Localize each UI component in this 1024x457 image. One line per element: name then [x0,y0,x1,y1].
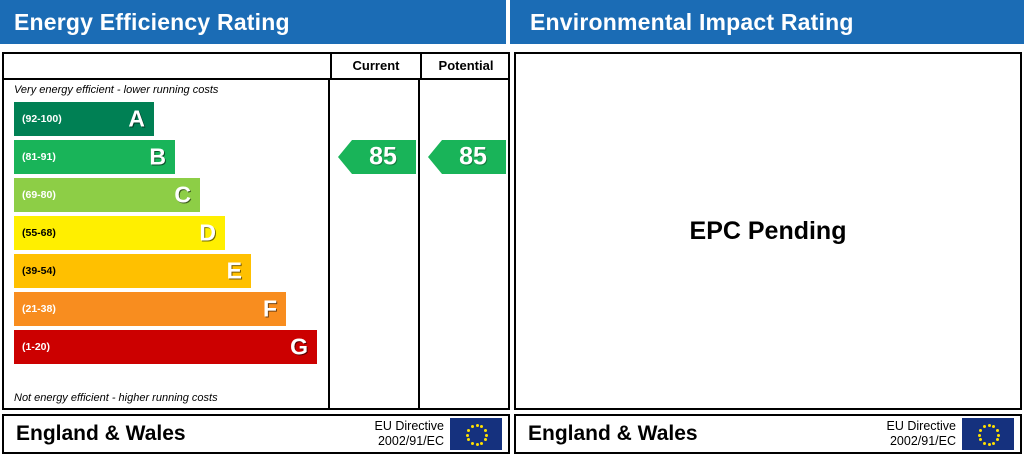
rating-band-letter-b: B [149,146,166,169]
eu-star-icon [983,425,986,428]
eu-star-icon [988,443,991,446]
eu-star-icon [996,429,999,432]
rating-band-range-b: (81-91) [22,151,56,163]
rating-band-range-e: (39-54) [22,265,56,277]
rating-band-range-c: (69-80) [22,189,56,201]
eu-star-icon [485,434,488,437]
eu-star-icon [484,438,487,441]
footer-directive-left: EU Directive 2002/91/EC [375,419,444,449]
potential-rating-value: 85 [444,145,502,170]
column-divider-potential [418,80,420,410]
eu-flag-icon-left [450,418,502,450]
eu-star-icon [471,425,474,428]
energy-rating-title: Energy Efficiency Rating [14,9,290,36]
eu-star-icon [476,424,479,427]
eu-star-icon [480,425,483,428]
rating-band-d: (55-68)D [14,216,225,250]
directive-line-1-left: EU Directive [375,419,444,434]
eu-flag-icon-right [962,418,1014,450]
eu-star-icon [467,438,470,441]
rating-band-range-a: (92-100) [22,113,62,125]
rating-band-g: (1-20)G [14,330,317,364]
rating-band-b: (81-91)B [14,140,175,174]
footer-region-label-left: England & Wales [16,422,186,446]
column-header-row: Current Potential [4,54,508,80]
rating-band-letter-a: A [128,108,145,131]
eu-star-icon [471,442,474,445]
rating-band-c: (69-80)C [14,178,200,212]
eu-star-icon [983,442,986,445]
footer-right: England & Wales EU Directive 2002/91/EC [514,414,1022,454]
potential-rating-arrow: 85 [428,140,506,174]
rating-band-letter-d: D [199,222,216,245]
rating-band-a: (92-100)A [14,102,154,136]
environmental-rating-title: Environmental Impact Rating [530,9,854,36]
column-divider-current [328,80,330,410]
header-divider [506,0,510,44]
rating-band-f: (21-38)F [14,292,286,326]
rating-band-range-g: (1-20) [22,341,50,353]
directive-line-2-left: 2002/91/EC [375,434,444,449]
environmental-impact-panel: EPC Pending [514,52,1022,410]
column-header-potential: Potential [420,54,510,78]
eu-star-icon [480,442,483,445]
eu-star-icon [992,425,995,428]
eu-star-icon [988,424,991,427]
eu-star-icon [979,429,982,432]
epc-certificate-graphic: Energy Efficiency Rating Environmental I… [0,0,1024,457]
footer-left: England & Wales EU Directive 2002/91/EC [2,414,510,454]
current-rating-value: 85 [354,145,412,170]
eu-star-icon [466,434,469,437]
rating-band-range-d: (55-68) [22,227,56,239]
rating-band-letter-e: E [227,260,242,283]
rating-band-letter-f: F [263,298,277,321]
rating-band-e: (39-54)E [14,254,251,288]
rating-bands-chart: Very energy efficient - lower running co… [4,80,328,410]
eu-star-icon [467,429,470,432]
eu-star-icon [997,434,1000,437]
column-header-current: Current [330,54,420,78]
footer-region-label-right: England & Wales [528,422,698,446]
epc-pending-message: EPC Pending [516,54,1020,408]
energy-efficiency-panel: Current Potential Very energy efficient … [2,52,510,410]
eu-star-icon [476,443,479,446]
eu-star-icon [996,438,999,441]
eu-star-icon [978,434,981,437]
rating-band-letter-g: G [290,336,308,359]
footer-directive-right: EU Directive 2002/91/EC [887,419,956,449]
current-rating-arrow: 85 [338,140,416,174]
rating-band-letter-c: C [174,184,191,207]
eu-star-icon [484,429,487,432]
caption-very-efficient: Very energy efficient - lower running co… [14,84,218,96]
caption-not-efficient: Not energy efficient - higher running co… [14,392,218,404]
eu-star-icon [992,442,995,445]
eu-star-icon [979,438,982,441]
rating-band-list: (92-100)A(81-91)B(69-80)C(55-68)D(39-54)… [14,102,317,368]
directive-line-2-right: 2002/91/EC [887,434,956,449]
directive-line-1-right: EU Directive [887,419,956,434]
rating-band-range-f: (21-38) [22,303,56,315]
